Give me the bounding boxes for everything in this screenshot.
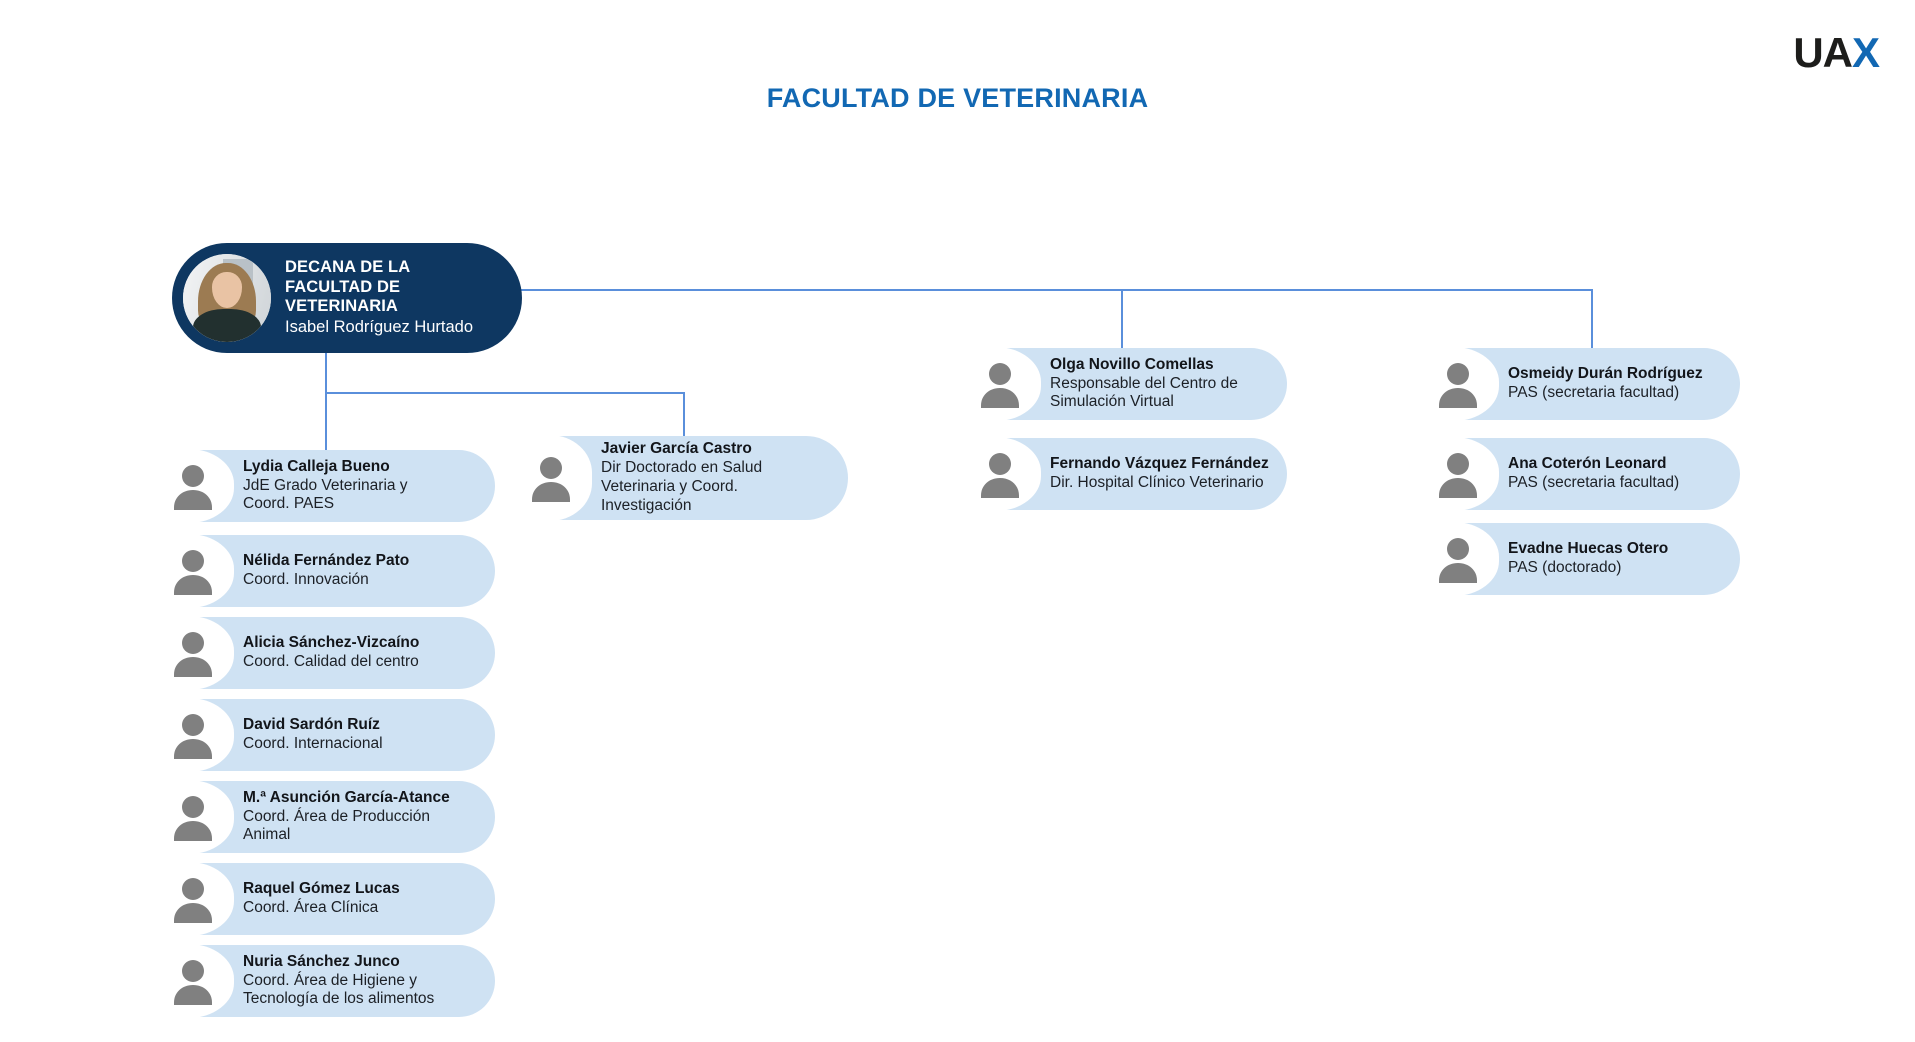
person-name: Nuria Sánchez Junco — [243, 953, 434, 972]
person-role-line-1: Coord. Área de Higiene y — [243, 972, 434, 991]
person-icon — [171, 795, 215, 841]
person-card-asuncion-garcia-atance[interactable]: M.ª Asunción García-Atance Coord. Área d… — [155, 781, 495, 853]
person-text-block: Fernando Vázquez Fernández Dir. Hospital… — [1050, 455, 1285, 493]
person-role: PAS (secretaria facultad) — [1508, 474, 1679, 493]
person-card-osmeidy-duran-rodriguez[interactable]: Osmeidy Durán Rodríguez PAS (secretaria … — [1420, 348, 1740, 420]
person-card-javier-garcia-castro[interactable]: Javier García Castro Dir Doctorado en Sa… — [513, 436, 848, 520]
dean-role-line-1: DECANA DE LA — [285, 258, 473, 277]
person-card-raquel-gomez-lucas[interactable]: Raquel Gómez Lucas Coord. Área Clínica — [155, 863, 495, 935]
person-role-line-1: PAS (doctorado) — [1508, 559, 1668, 578]
person-text-block: Nélida Fernández Pato Coord. Innovación — [243, 552, 425, 590]
person-text-block: M.ª Asunción García-Atance Coord. Área d… — [243, 789, 466, 846]
person-text-block: Javier García Castro Dir Doctorado en Sa… — [601, 440, 778, 516]
person-role-line-1: Coord. Área de Producción — [243, 808, 450, 827]
person-card-alicia-sanchez-vizcaino[interactable]: Alicia Sánchez-Vizcaíno Coord. Calidad d… — [155, 617, 495, 689]
person-name: Evadne Huecas Otero — [1508, 540, 1668, 559]
person-name: Lydia Calleja Bueno — [243, 458, 408, 477]
person-name: Nélida Fernández Pato — [243, 552, 409, 571]
person-icon — [1436, 362, 1480, 408]
person-name: Fernando Vázquez Fernández — [1050, 455, 1269, 474]
person-role-line-1: Coord. Calidad del centro — [243, 653, 419, 672]
person-name: David Sardón Ruíz — [243, 716, 383, 735]
person-name: Raquel Gómez Lucas — [243, 880, 400, 899]
page-title: FACULTAD DE VETERINARIA — [0, 83, 1915, 114]
person-card-olga-novillo-comellas[interactable]: Olga Novillo Comellas Responsable del Ce… — [962, 348, 1287, 420]
person-role-line-1: Dir Doctorado en Salud — [601, 459, 762, 478]
connector-root-right-trunk — [521, 289, 1593, 291]
person-icon — [171, 631, 215, 677]
person-role: Coord. Internacional — [243, 735, 383, 754]
person-icon — [529, 456, 573, 502]
logo-text-x: X — [1852, 29, 1879, 76]
dean-photo-avatar — [183, 254, 271, 342]
person-icon — [1436, 452, 1480, 498]
logo-text-ua: UA — [1793, 29, 1852, 76]
person-text-block: Lydia Calleja Bueno JdE Grado Veterinari… — [243, 458, 424, 515]
dean-role-line-3: VETERINARIA — [285, 297, 473, 316]
person-icon — [171, 464, 215, 510]
dean-name: Isabel Rodríguez Hurtado — [285, 318, 473, 338]
person-role: Coord. Innovación — [243, 571, 409, 590]
person-card-fernando-vazquez-fernandez[interactable]: Fernando Vázquez Fernández Dir. Hospital… — [962, 438, 1287, 510]
uax-logo: UAX — [1793, 32, 1879, 74]
person-icon — [978, 452, 1022, 498]
dean-card[interactable]: DECANA DE LA FACULTAD DE VETERINARIA Isa… — [172, 243, 522, 353]
person-text-block: Nuria Sánchez Junco Coord. Área de Higie… — [243, 953, 450, 1010]
person-role-line-2: Veterinaria y Coord. — [601, 478, 762, 497]
person-role-line-1: PAS (secretaria facultad) — [1508, 474, 1679, 493]
person-icon — [171, 877, 215, 923]
dean-role-line-2: FACULTAD DE — [285, 278, 473, 297]
person-role-line-2: Coord. PAES — [243, 495, 408, 514]
person-role-line-1: Coord. Área Clínica — [243, 899, 400, 918]
connector-root-down — [325, 353, 327, 393]
person-role-line-1: Coord. Internacional — [243, 735, 383, 754]
person-role: Coord. Área Clínica — [243, 899, 400, 918]
person-card-lydia-calleja-bueno[interactable]: Lydia Calleja Bueno JdE Grado Veterinari… — [155, 450, 495, 522]
person-name: Alicia Sánchez-Vizcaíno — [243, 634, 419, 653]
person-card-nuria-sanchez-junco[interactable]: Nuria Sánchez Junco Coord. Área de Higie… — [155, 945, 495, 1017]
person-name: Ana Coterón Leonard — [1508, 455, 1679, 474]
person-text-block: Evadne Huecas Otero PAS (doctorado) — [1508, 540, 1684, 578]
person-role: Coord. Área de Producción Animal — [243, 808, 450, 846]
person-name: M.ª Asunción García-Atance — [243, 789, 450, 808]
person-role: Responsable del Centro de Simulación Vir… — [1050, 375, 1238, 413]
person-role: Coord. Área de Higiene y Tecnología de l… — [243, 972, 434, 1010]
person-role-line-1: Dir. Hospital Clínico Veterinario — [1050, 474, 1269, 493]
person-role-line-1: Coord. Innovación — [243, 571, 409, 590]
person-role-line-2: Animal — [243, 826, 450, 845]
person-icon — [171, 959, 215, 1005]
person-icon — [171, 549, 215, 595]
person-icon — [1436, 537, 1480, 583]
connector-to-olga — [1121, 289, 1123, 348]
person-role: PAS (secretaria facultad) — [1508, 384, 1703, 403]
dean-role: DECANA DE LA FACULTAD DE VETERINARIA — [285, 258, 473, 316]
person-text-block: Olga Novillo Comellas Responsable del Ce… — [1050, 356, 1254, 413]
connector-to-lydia — [325, 392, 327, 450]
person-role-line-1: PAS (secretaria facultad) — [1508, 384, 1703, 403]
person-text-block: Raquel Gómez Lucas Coord. Área Clínica — [243, 880, 416, 918]
person-role-line-1: JdE Grado Veterinaria y — [243, 477, 408, 496]
person-role: JdE Grado Veterinaria y Coord. PAES — [243, 477, 408, 515]
dean-text-block: DECANA DE LA FACULTAD DE VETERINARIA Isa… — [285, 258, 487, 337]
person-card-nelida-fernandez-pato[interactable]: Nélida Fernández Pato Coord. Innovación — [155, 535, 495, 607]
person-name: Osmeidy Durán Rodríguez — [1508, 365, 1703, 384]
person-role-line-1: Responsable del Centro de — [1050, 375, 1238, 394]
person-role-line-2: Simulación Virtual — [1050, 393, 1238, 412]
person-role: Coord. Calidad del centro — [243, 653, 419, 672]
person-icon — [978, 362, 1022, 408]
person-card-david-sardon-ruiz[interactable]: David Sardón Ruíz Coord. Internacional — [155, 699, 495, 771]
person-role: PAS (doctorado) — [1508, 559, 1668, 578]
person-card-ana-coteron-leonard[interactable]: Ana Coterón Leonard PAS (secretaria facu… — [1420, 438, 1740, 510]
person-text-block: Alicia Sánchez-Vizcaíno Coord. Calidad d… — [243, 634, 435, 672]
person-role-line-3: Investigación — [601, 497, 762, 516]
person-icon — [171, 713, 215, 759]
person-name: Olga Novillo Comellas — [1050, 356, 1238, 375]
person-role: Dir Doctorado en Salud Veterinaria y Coo… — [601, 459, 762, 516]
person-name: Javier García Castro — [601, 440, 762, 459]
person-card-evadne-huecas-otero[interactable]: Evadne Huecas Otero PAS (doctorado) — [1420, 523, 1740, 595]
person-text-block: David Sardón Ruíz Coord. Internacional — [243, 716, 399, 754]
connector-to-osmeidy — [1591, 289, 1593, 348]
connector-left-branch-bar — [325, 392, 685, 394]
person-role: Dir. Hospital Clínico Veterinario — [1050, 474, 1269, 493]
person-text-block: Osmeidy Durán Rodríguez PAS (secretaria … — [1508, 365, 1719, 403]
person-role-line-2: Tecnología de los alimentos — [243, 990, 434, 1009]
person-text-block: Ana Coterón Leonard PAS (secretaria facu… — [1508, 455, 1695, 493]
